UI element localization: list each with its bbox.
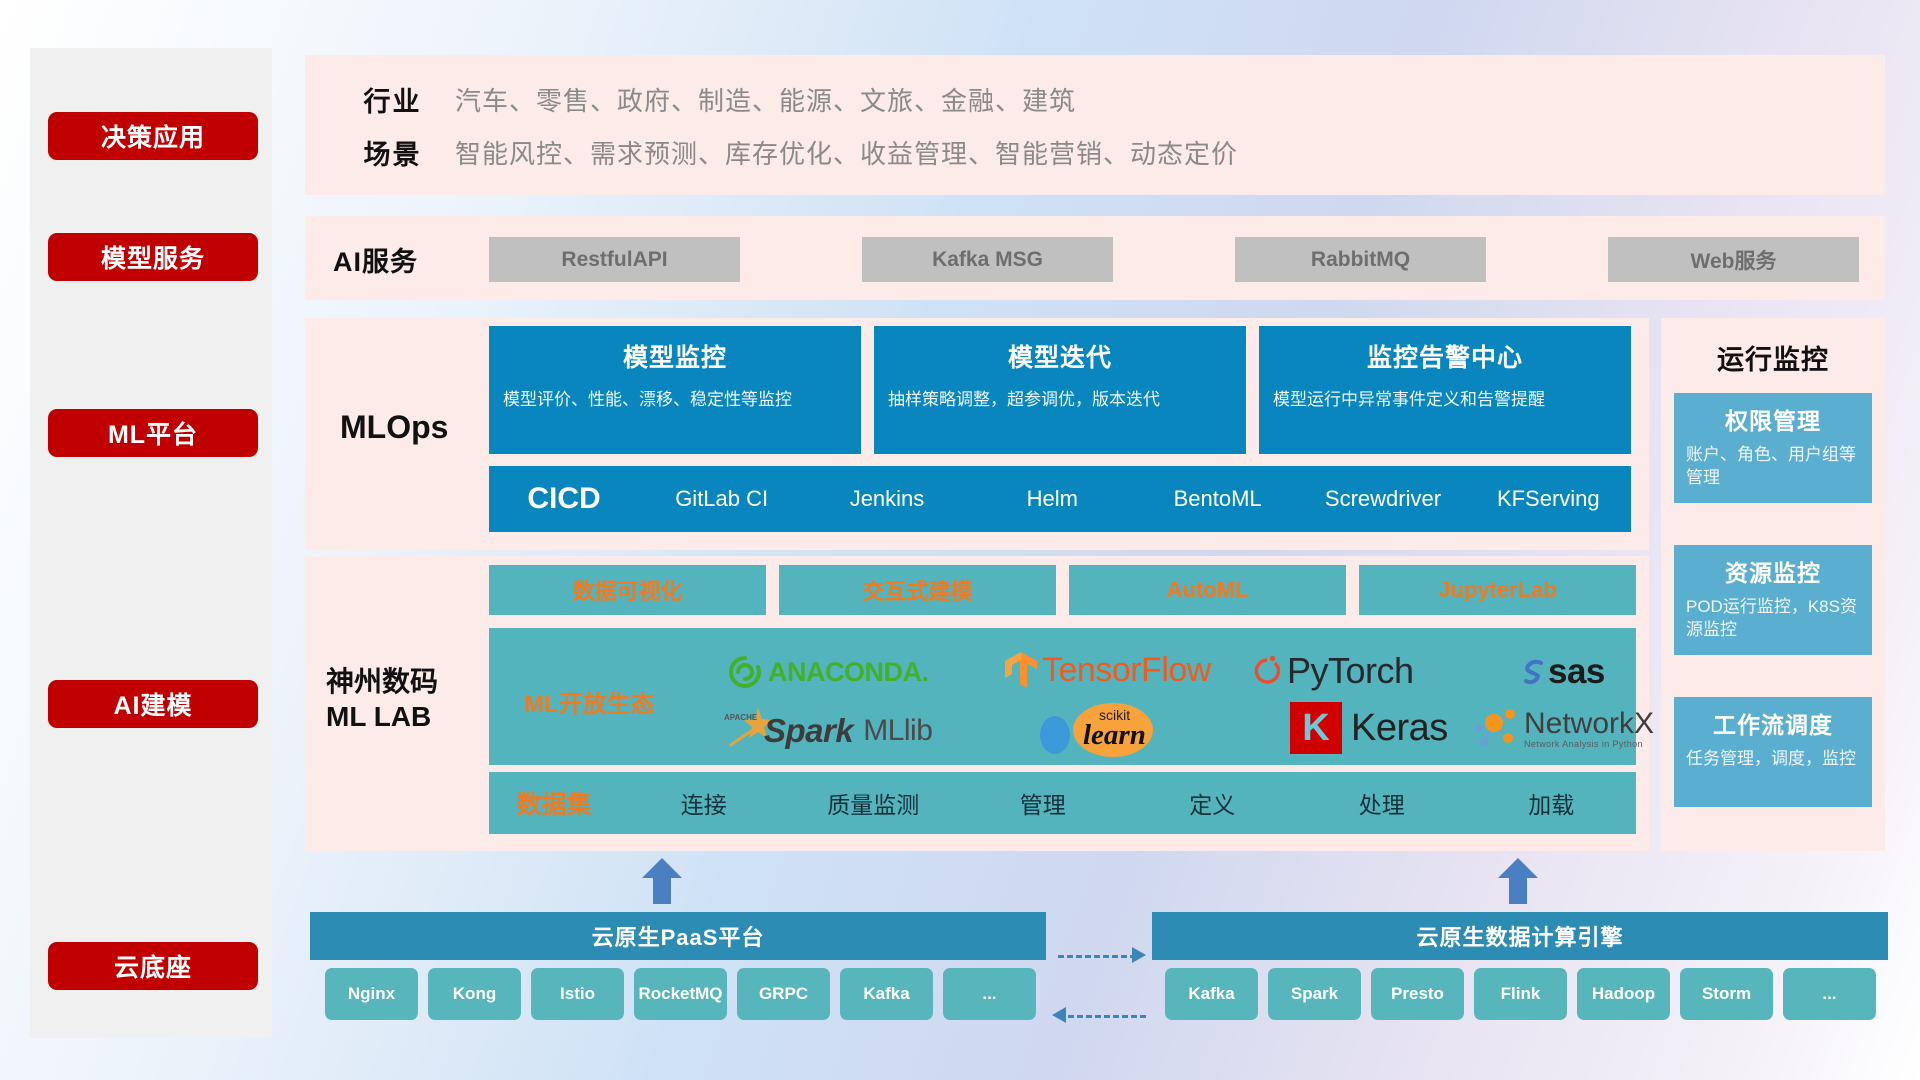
connector-left-arrow-icon [1046, 1005, 1066, 1025]
card-desc: 模型运行中异常事件定义和告警提醒 [1273, 388, 1617, 411]
connector-left-line [1068, 1015, 1146, 1018]
paas-chip-kong[interactable]: Kong [428, 968, 521, 1020]
engine-chip-presto[interactable]: Presto [1371, 968, 1464, 1020]
sidebar-item-decision-app[interactable]: 决策应用 [48, 112, 258, 160]
tensorflow-logo: TensorFlow [1003, 650, 1211, 690]
industry-row: 行业 汽车、零售、政府、制造、能源、文旅、金融、建筑 [330, 75, 1860, 123]
dataset-item-quality[interactable]: 质量监测 [789, 786, 959, 820]
cicd-item-jenkins[interactable]: Jenkins [804, 487, 969, 510]
engine-chip-kafka[interactable]: Kafka [1165, 968, 1258, 1020]
card-title: 监控告警中心 [1273, 338, 1617, 374]
cicd-bar: CICD GitLab CI Jenkins Helm BentoML Scre… [489, 466, 1631, 532]
dataset-item-manage[interactable]: 管理 [958, 786, 1128, 820]
sidebar-item-label: 云底座 [114, 948, 192, 984]
dataset-bar: 数据集 连接 质量监测 管理 定义 处理 加载 [489, 772, 1636, 834]
sas-logo: sas [1516, 652, 1605, 692]
learn-text: learn [1083, 719, 1146, 752]
cicd-item-screwdriver[interactable]: Screwdriver [1300, 487, 1465, 510]
ai-service-label: AI服务 [333, 240, 418, 279]
lab-tool-jupyterlab[interactable]: JupyterLab [1359, 565, 1636, 615]
svg-text:APACHE: APACHE [724, 713, 758, 722]
tensorflow-icon [1003, 650, 1039, 690]
card-title: 模型监控 [503, 338, 847, 374]
dataset-label: 数据集 [489, 785, 619, 821]
networkx-graph-icon [1468, 706, 1520, 752]
data-engine-header: 云原生数据计算引擎 [1152, 912, 1888, 960]
paas-up-arrow-icon [640, 858, 684, 904]
mlops-label: MLOps [340, 409, 448, 446]
ml-ecosystem-label: ML开放生态 [524, 684, 655, 719]
card-desc: 任务管理，调度，监控 [1686, 748, 1860, 771]
anaconda-icon [728, 655, 762, 689]
card-desc: 抽样策略调整，超参调优，版本迭代 [888, 388, 1232, 411]
sas-wordmark: sas [1548, 652, 1605, 692]
connector-right-arrow-icon [1132, 945, 1152, 965]
mlops-card-model-monitoring[interactable]: 模型监控 模型评价、性能、漂移、稳定性等监控 [489, 326, 861, 454]
sidebar-item-model-service[interactable]: 模型服务 [48, 233, 258, 281]
card-title: 权限管理 [1686, 402, 1860, 436]
anaconda-wordmark: ANACONDA. [768, 657, 929, 688]
ml-lab-label: 神州数码 ML LAB [326, 664, 438, 734]
anaconda-logo: ANACONDA. [728, 655, 929, 689]
paas-chip-istio[interactable]: Istio [531, 968, 624, 1020]
ai-service-chip-rabbitmq[interactable]: RabbitMQ [1235, 237, 1486, 282]
lab-tool-interactive-modeling[interactable]: 交互式建模 [779, 565, 1056, 615]
sidebar-item-ml-platform[interactable]: ML平台 [48, 409, 258, 457]
paas-chip-rocketmq[interactable]: RocketMQ [634, 968, 727, 1020]
monitoring-card-permission[interactable]: 权限管理 账户、角色、用户组等管理 [1674, 393, 1872, 503]
scenario-row: 场景 智能风控、需求预测、库存优化、收益管理、智能营销、动态定价 [330, 128, 1860, 176]
mlops-card-model-iteration[interactable]: 模型迭代 抽样策略调整，超参调优，版本迭代 [874, 326, 1246, 454]
sidebar-item-label: ML平台 [108, 415, 198, 451]
card-title: 模型迭代 [888, 338, 1232, 374]
engine-chip-hadoop[interactable]: Hadoop [1577, 968, 1670, 1020]
mllib-wordmark: MLlib [863, 714, 932, 748]
monitoring-card-resource[interactable]: 资源监控 POD运行监控，K8S资源监控 [1674, 545, 1872, 655]
networkx-wordmark: NetworkX [1524, 709, 1654, 739]
keras-wordmark: Keras [1351, 707, 1448, 750]
industry-values: 汽车、零售、政府、制造、能源、文旅、金融、建筑 [455, 81, 1076, 118]
layer-rail [30, 48, 272, 1038]
paas-chip-grpc[interactable]: GRPC [737, 968, 830, 1020]
monitoring-card-workflow[interactable]: 工作流调度 任务管理，调度，监控 [1674, 697, 1872, 807]
cicd-item-helm[interactable]: Helm [970, 487, 1135, 510]
engine-chip-storm[interactable]: Storm [1680, 968, 1773, 1020]
card-desc: POD运行监控，K8S资源监控 [1686, 596, 1860, 641]
networkx-logo: NetworkX Network Analysis in Python [1468, 706, 1654, 752]
cicd-item-gitlab-ci[interactable]: GitLab CI [639, 487, 804, 510]
keras-mark-letter: K [1302, 707, 1329, 750]
pytorch-icon [1252, 653, 1282, 689]
engine-chip-more[interactable]: ... [1783, 968, 1876, 1020]
ai-service-chip-kafka-msg[interactable]: Kafka MSG [862, 237, 1113, 282]
sidebar-item-label: 决策应用 [101, 118, 205, 154]
scenario-label: 场景 [330, 133, 455, 172]
pytorch-logo: PyTorch [1252, 650, 1414, 692]
sidebar-item-ai-modeling[interactable]: AI建模 [48, 680, 258, 728]
data-engine-up-arrow-icon [1496, 858, 1540, 904]
engine-chip-spark[interactable]: Spark [1268, 968, 1361, 1020]
cicd-item-kfserving[interactable]: KFServing [1466, 487, 1631, 510]
cicd-item-bentoml[interactable]: BentoML [1135, 487, 1300, 510]
sidebar-item-cloud-base[interactable]: 云底座 [48, 942, 258, 990]
paas-chip-kafka[interactable]: Kafka [840, 968, 933, 1020]
paas-chip-nginx[interactable]: Nginx [325, 968, 418, 1020]
networkx-tagline: Network Analysis in Python [1524, 739, 1654, 749]
ai-service-chip-restfulapi[interactable]: RestfulAPI [489, 237, 740, 282]
pytorch-wordmark: PyTorch [1287, 650, 1414, 692]
ml-lab-label-line2: ML LAB [326, 699, 438, 734]
keras-mark-icon: K [1290, 702, 1342, 754]
card-desc: 账户、角色、用户组等管理 [1686, 444, 1860, 489]
ml-lab-label-line1: 神州数码 [326, 664, 438, 699]
scikit-learn-logo: scikit learn [1039, 702, 1161, 763]
mlops-card-alert-center[interactable]: 监控告警中心 模型运行中异常事件定义和告警提醒 [1259, 326, 1631, 454]
spark-wordmark: Spark [764, 712, 853, 750]
spark-mllib-logo: APACHE Spark MLlib [724, 706, 932, 756]
lab-tool-automl[interactable]: AutoML [1069, 565, 1346, 615]
card-title: 资源监控 [1686, 554, 1860, 588]
dataset-item-connect[interactable]: 连接 [619, 786, 789, 820]
monitoring-title: 运行监控 [1661, 338, 1885, 377]
lab-tool-data-visualization[interactable]: 数据可视化 [489, 565, 766, 615]
architecture-diagram: 决策应用 模型服务 ML平台 AI建模 云底座 行业 汽车、零售、政府、制造、能… [0, 0, 1920, 1080]
dataset-item-load[interactable]: 加载 [1467, 786, 1637, 820]
card-title: 工作流调度 [1686, 706, 1860, 740]
scenario-values: 智能风控、需求预测、库存优化、收益管理、智能营销、动态定价 [455, 134, 1238, 171]
paas-header: 云原生PaaS平台 [310, 912, 1046, 960]
cicd-label: CICD [489, 482, 639, 516]
card-desc: 模型评价、性能、漂移、稳定性等监控 [503, 388, 847, 411]
paas-chip-more[interactable]: ... [943, 968, 1036, 1020]
ai-service-chip-web[interactable]: Web服务 [1608, 237, 1859, 282]
dataset-item-define[interactable]: 定义 [1128, 786, 1298, 820]
sas-icon [1516, 655, 1550, 689]
keras-logo: K Keras [1290, 702, 1448, 754]
tensorflow-wordmark: TensorFlow [1042, 651, 1211, 690]
dataset-item-process[interactable]: 处理 [1297, 786, 1467, 820]
connector-right-line [1058, 955, 1136, 958]
industry-label: 行业 [330, 80, 455, 119]
sidebar-item-label: 模型服务 [101, 239, 205, 275]
engine-chip-flink[interactable]: Flink [1474, 968, 1567, 1020]
sidebar-item-label: AI建模 [113, 686, 192, 722]
